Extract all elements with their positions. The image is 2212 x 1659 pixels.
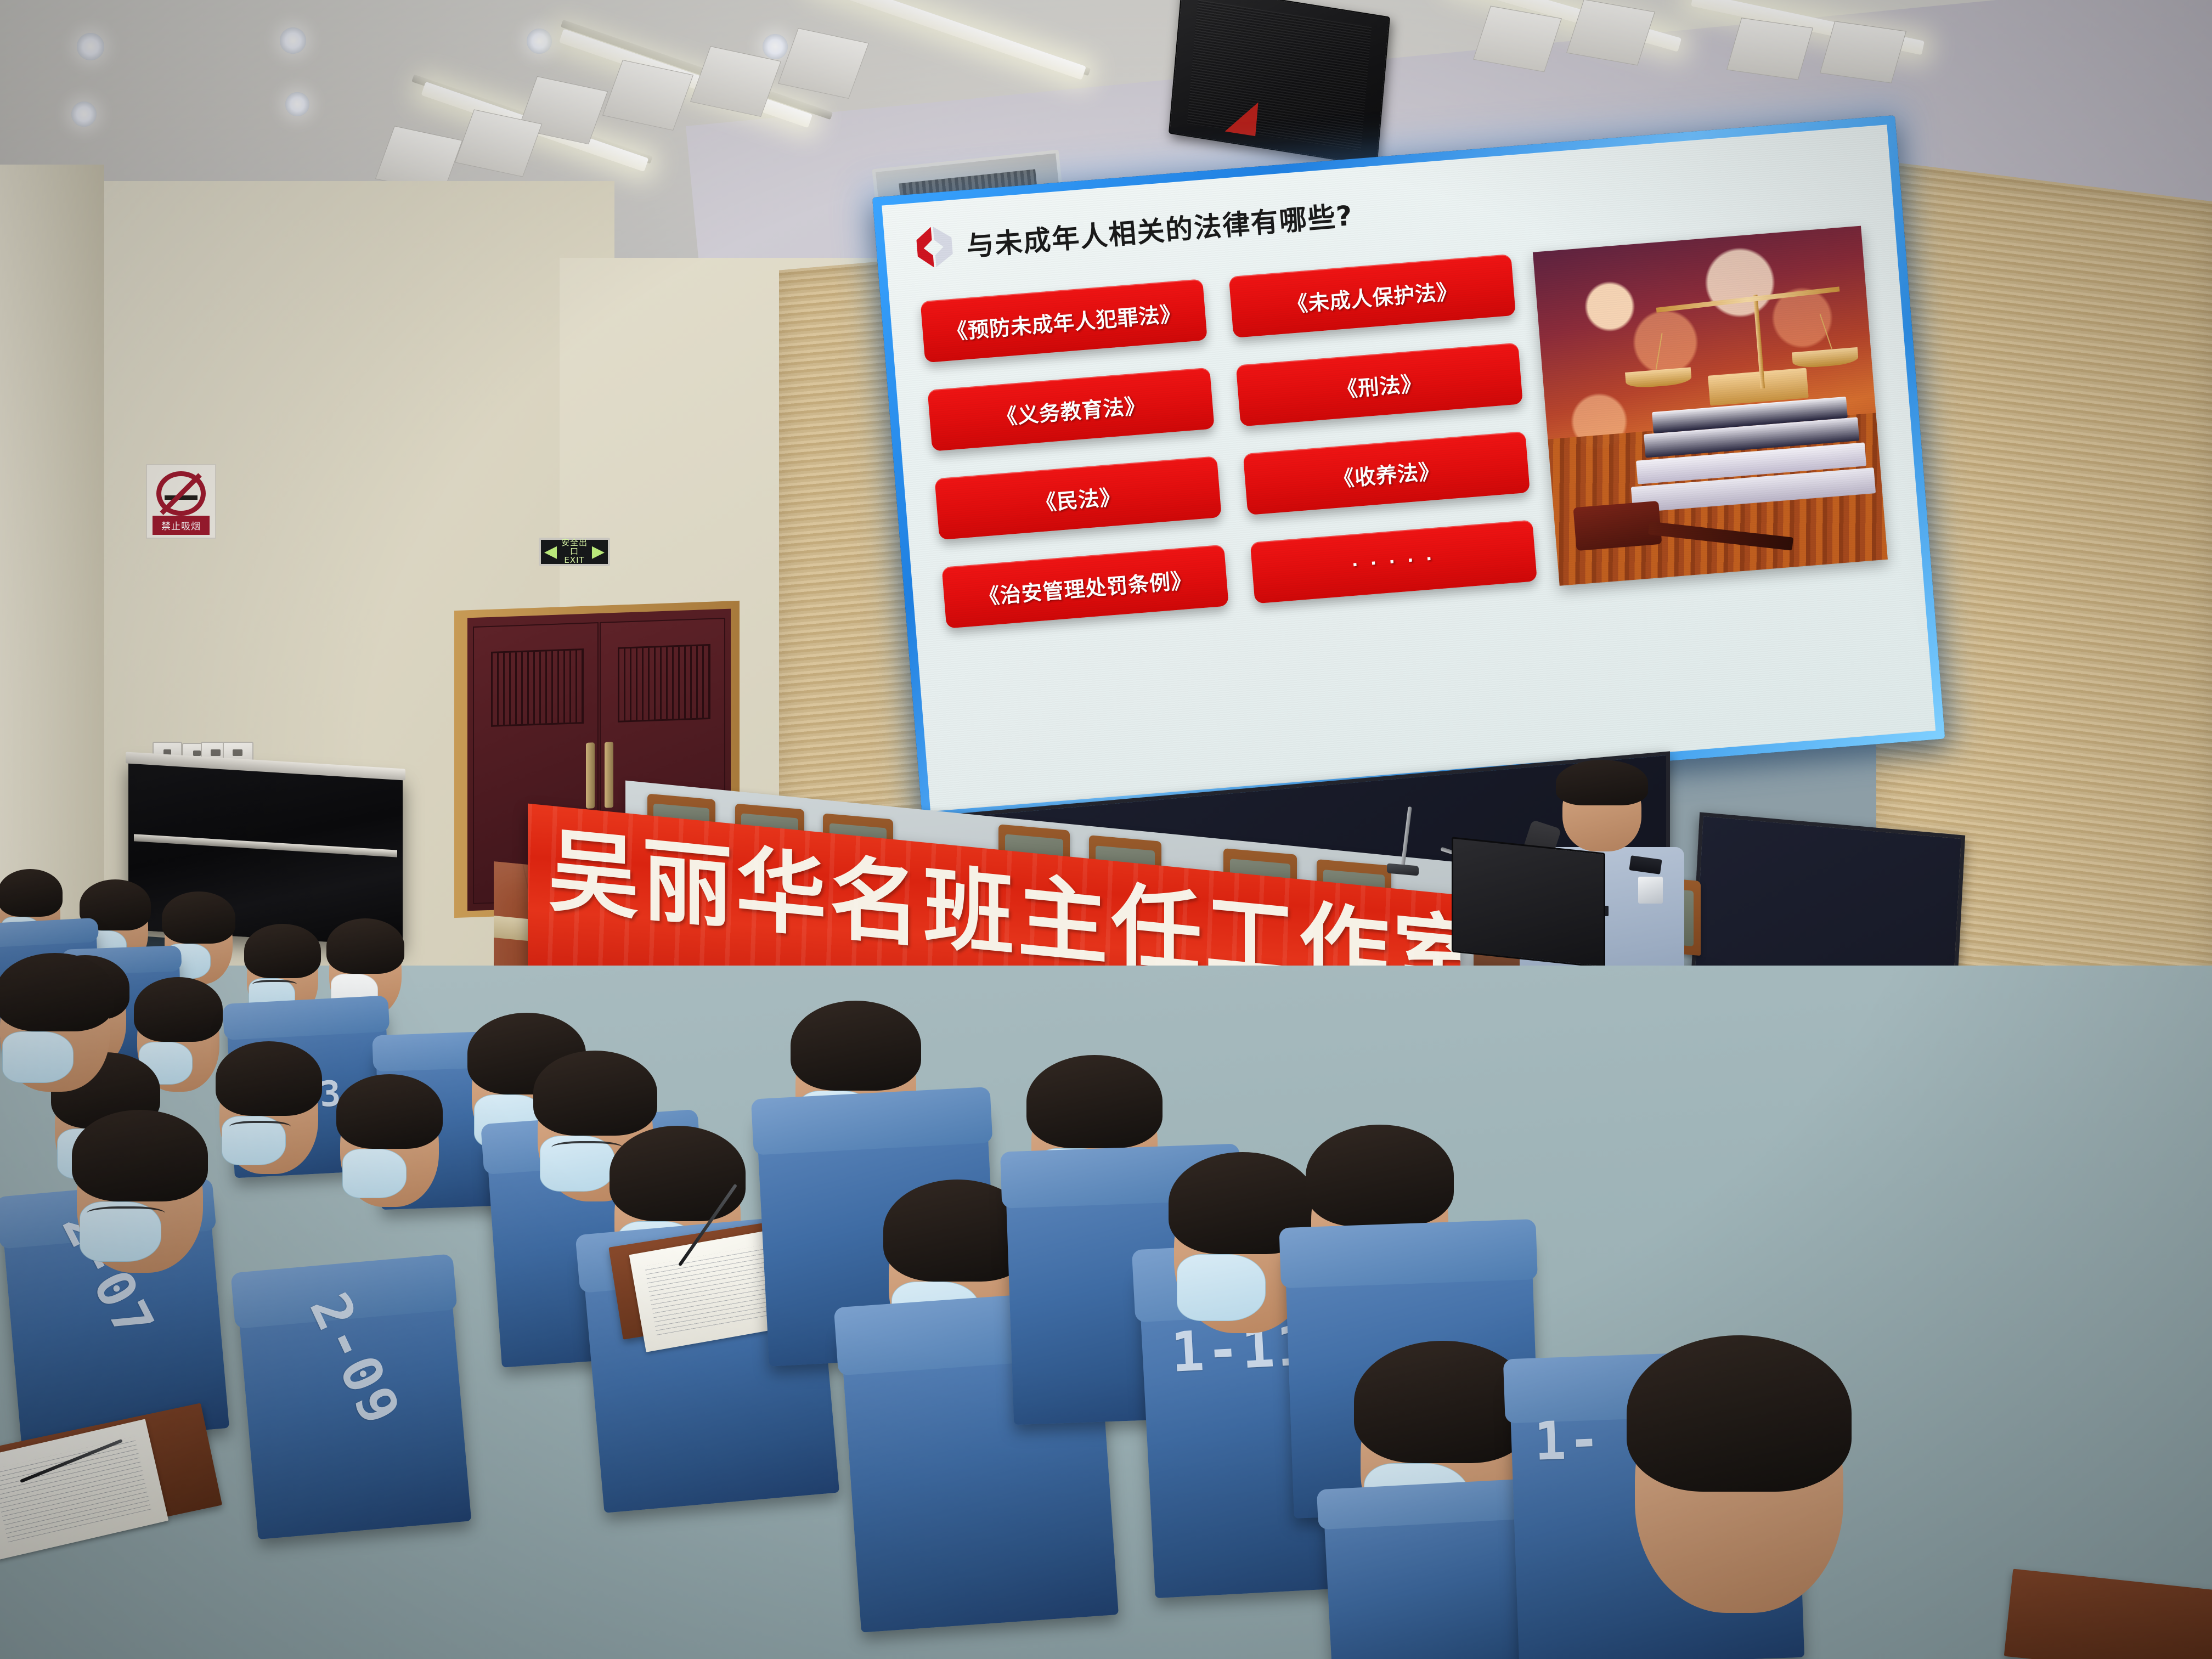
law-button-label: · · · · · [1351, 549, 1436, 574]
auditorium-scene: 禁止吸烟 ◀ 安全出口 EXIT ▶ [0, 0, 2212, 1659]
slide-surface: 与未成年人相关的法律有哪些? 《预防未成年人犯罪法》 《未成人保护法》 《义务教… [882, 125, 1936, 811]
laptop-icon[interactable] [1452, 837, 1605, 968]
seat-number: 1- [1533, 1408, 1603, 1472]
law-button[interactable]: 《未成人保护法》 [1229, 254, 1516, 338]
recessed-downlight-icon [77, 33, 104, 60]
law-button-label: 《未成人保护法》 [1286, 274, 1459, 318]
door-handle[interactable] [586, 742, 595, 809]
no-smoking-sign: 禁止吸烟 [146, 464, 216, 539]
law-button-ellipsis[interactable]: · · · · · [1250, 520, 1537, 603]
law-button-label: 《义务教育法》 [995, 388, 1147, 431]
audience-member [0, 966, 110, 1092]
audience-member [219, 1053, 318, 1174]
exit-sign: ◀ 安全出口 EXIT ▶ [539, 538, 610, 566]
law-button-label: 《民法》 [1034, 479, 1122, 516]
exit-sign-label: 安全出口 EXIT [557, 539, 592, 565]
law-button-label: 《收养法》 [1332, 454, 1441, 492]
officer-hair [1556, 760, 1648, 806]
presentation-slide: 与未成年人相关的法律有哪些? 《预防未成年人犯罪法》 《未成人保护法》 《义务教… [882, 125, 1936, 811]
exit-arrow-right-icon: ▶ [592, 544, 605, 560]
law-button-grid: 《预防未成年人犯罪法》 《未成人保护法》 《义务教育法》 《刑法》 《民法》 《… [920, 254, 1537, 635]
led-display-screen: 与未成年人相关的法律有哪些? 《预防未成年人犯罪法》 《未成人保护法》 《义务教… [872, 115, 1945, 821]
no-smoking-label: 禁止吸烟 [153, 516, 210, 534]
law-button-label: 《治安管理处罚条例》 [978, 563, 1193, 610]
law-button[interactable]: 《刑法》 [1236, 342, 1523, 426]
diamond-chevron-logo-icon [915, 224, 956, 269]
slide-body: 《预防未成年人犯罪法》 《未成人保护法》 《义务教育法》 《刑法》 《民法》 《… [920, 225, 1891, 635]
audience-seat[interactable]: 2-09 [236, 1269, 472, 1539]
audience-member [340, 1086, 439, 1207]
justice-photo [1533, 226, 1888, 586]
recessed-downlight-icon [285, 92, 309, 116]
police-badge-icon [1638, 877, 1663, 904]
light-baffle [1820, 21, 1906, 83]
law-button[interactable]: 《民法》 [934, 456, 1221, 540]
law-button[interactable]: 《治安管理处罚条例》 [941, 545, 1228, 629]
scales-of-justice-icon [1708, 368, 1809, 406]
law-books-icon [1624, 386, 1876, 512]
law-button[interactable]: 《预防未成年人犯罪法》 [920, 279, 1207, 363]
slide-title: 与未成年人相关的法律有哪些? [965, 194, 1355, 264]
law-button[interactable]: 《义务教育法》 [927, 368, 1214, 452]
law-button-label: 《刑法》 [1335, 366, 1423, 403]
exit-arrow-left-icon: ◀ [544, 544, 557, 560]
law-button[interactable]: 《收养法》 [1243, 431, 1530, 515]
door-handle[interactable] [605, 742, 613, 808]
gavel-icon [1573, 501, 1662, 551]
recessed-downlight-icon [280, 27, 306, 54]
recessed-downlight-icon [71, 101, 97, 127]
recessed-downlight-icon [763, 34, 788, 59]
recessed-downlight-icon [527, 29, 552, 54]
law-button-label: 《预防未成年人犯罪法》 [945, 296, 1182, 345]
audience-member [1635, 1361, 1843, 1613]
light-baffle [1726, 18, 1813, 80]
audience-member [77, 1125, 203, 1273]
